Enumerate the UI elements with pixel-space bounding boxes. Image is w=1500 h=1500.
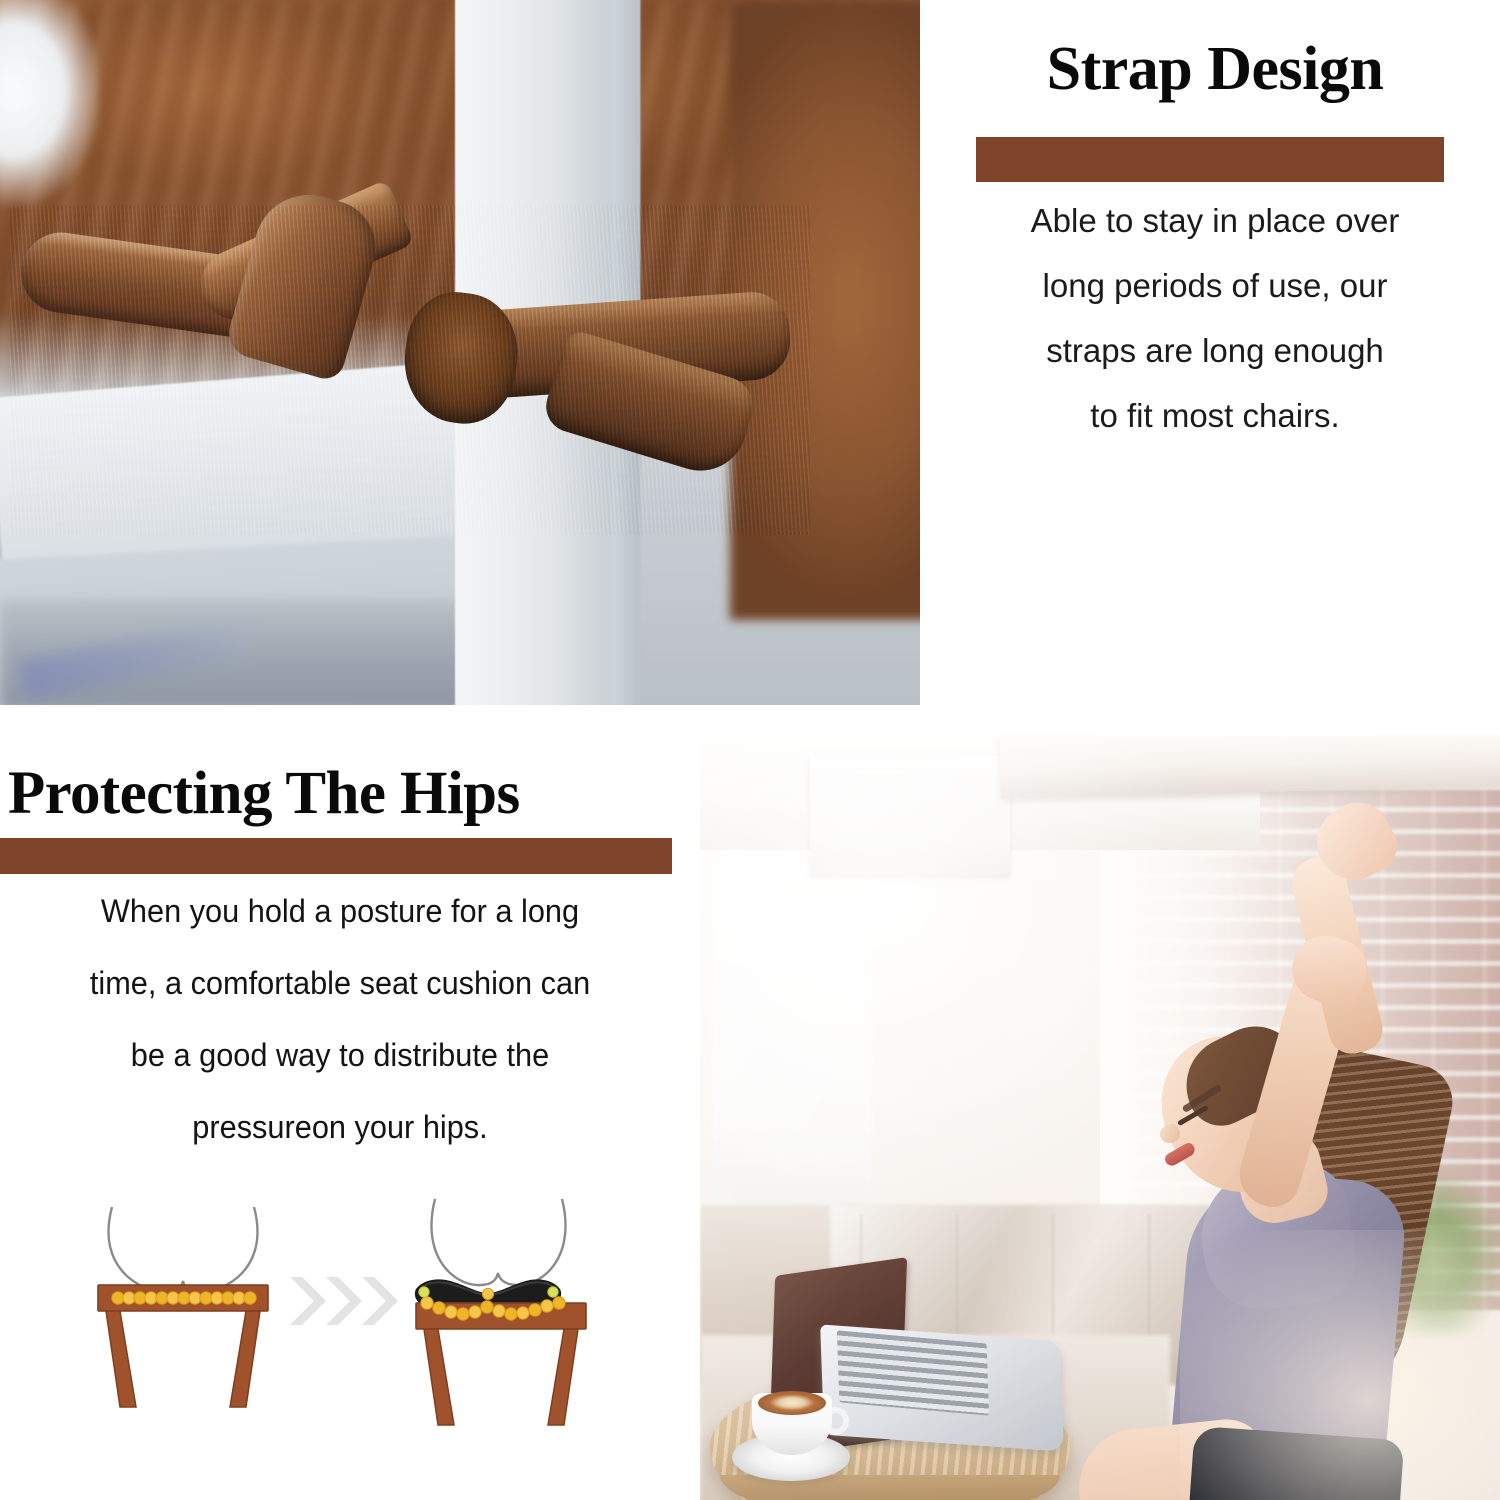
photo-corner-light: [0, 0, 100, 210]
laptop-keyboard: [837, 1330, 989, 1415]
strap-detail-photo: [0, 0, 920, 705]
body-line: pressureon your hips.: [23, 1091, 657, 1163]
stool-leg-left-1: [106, 1311, 136, 1407]
cafe-table-setup: [710, 1275, 1180, 1500]
pressure-dots-left: [112, 1292, 256, 1304]
body-line: be a good way to distribute the: [23, 1019, 657, 1091]
hip-outline-left: [109, 1207, 258, 1291]
strap-design-panel: Strap Design Able to stay in place over …: [930, 0, 1500, 705]
latte-art: [770, 1394, 814, 1411]
body-line: Able to stay in place over: [954, 188, 1476, 253]
body-line: long periods of use, our: [954, 253, 1476, 318]
diagram-stool-with-cushion: [415, 1199, 586, 1425]
protecting-hips-accent-bar: [0, 838, 672, 874]
diagram-stool-without-cushion: [98, 1207, 268, 1407]
body-line: straps are long enough: [954, 318, 1476, 383]
transition-arrows: [290, 1277, 398, 1325]
bow-knot: [397, 287, 524, 430]
chevron-arrow-3: [362, 1277, 398, 1325]
stool-leg-left-2: [230, 1311, 260, 1407]
soffit-box: [810, 755, 1010, 875]
stool-leg-right-1: [424, 1329, 454, 1425]
body-line: time, a comfortable seat cushion can: [23, 947, 657, 1019]
body-line: When you hold a posture for a long: [23, 875, 657, 947]
protecting-hips-heading: Protecting The Hips: [8, 759, 688, 829]
hip-outline-right: [431, 1199, 565, 1285]
window-pane: [712, 825, 872, 1255]
strap-design-accent-bar: [976, 137, 1444, 182]
hip-pressure-diagram: [90, 1185, 590, 1485]
strap-design-body: Able to stay in place over long periods …: [954, 188, 1476, 448]
stool-leg-right-2: [548, 1329, 578, 1425]
chevron-arrow-1: [290, 1277, 326, 1325]
strap-design-heading: Strap Design: [930, 34, 1500, 105]
protecting-hips-body: When you hold a posture for a long time,…: [23, 875, 657, 1163]
body-line: to fit most chairs.: [954, 383, 1476, 448]
woman-stretching-photo: [700, 735, 1500, 1500]
strap-bow: [10, 205, 810, 535]
product-feature-page: Strap Design Able to stay in place over …: [0, 0, 1500, 1500]
chevron-arrow-2: [326, 1277, 362, 1325]
